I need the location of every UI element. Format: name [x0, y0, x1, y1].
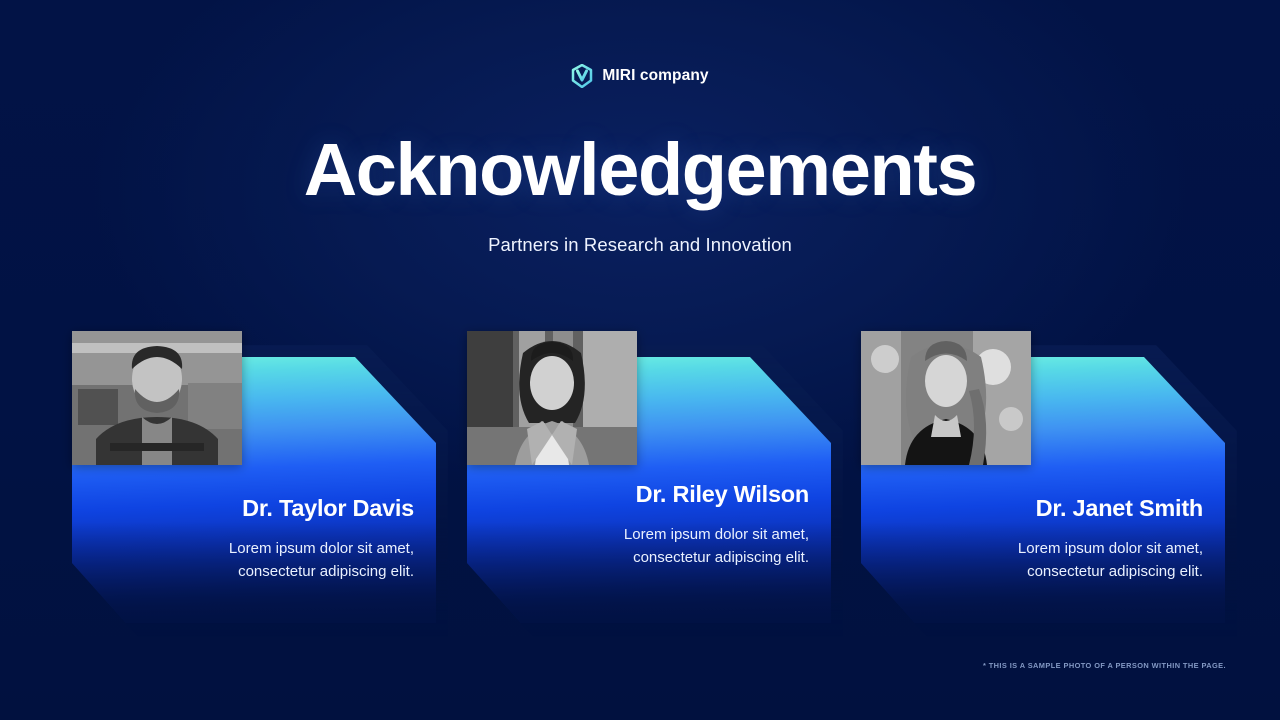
- card-description-line-1: Lorem ipsum dolor sit amet,: [229, 540, 414, 557]
- card-text-block: Dr. Riley Wilson Lorem ipsum dolor sit a…: [481, 481, 809, 570]
- card-person-name: Dr. Janet Smith: [875, 495, 1203, 522]
- card-description-line-2: consectetur adipiscing elit.: [86, 561, 414, 584]
- card-person-description: Lorem ipsum dolor sit amet, consectetur …: [481, 524, 809, 570]
- card-text-block: Dr. Janet Smith Lorem ipsum dolor sit am…: [875, 495, 1203, 584]
- card-description-line-2: consectetur adipiscing elit.: [481, 547, 809, 570]
- avatar: [861, 331, 1031, 465]
- card-text-block: Dr. Taylor Davis Lorem ipsum dolor sit a…: [86, 495, 414, 584]
- acknowledgement-card[interactable]: Dr. Riley Wilson Lorem ipsum dolor sit a…: [467, 331, 831, 623]
- acknowledgement-card[interactable]: Dr. Taylor Davis Lorem ipsum dolor sit a…: [72, 331, 436, 623]
- avatar: [467, 331, 637, 465]
- card-description-line-1: Lorem ipsum dolor sit amet,: [624, 526, 809, 543]
- card-person-name: Dr. Riley Wilson: [481, 481, 809, 508]
- sample-photo-disclaimer: * THIS IS A SAMPLE PHOTO OF A PERSON WIT…: [983, 661, 1226, 670]
- card-person-description: Lorem ipsum dolor sit amet, consectetur …: [86, 538, 414, 584]
- card-person-name: Dr. Taylor Davis: [86, 495, 414, 522]
- slide-acknowledgements: MIRI company Acknowledgements Partners i…: [0, 0, 1280, 720]
- avatar: [72, 331, 242, 465]
- card-description-line-2: consectetur adipiscing elit.: [875, 561, 1203, 584]
- card-description-line-1: Lorem ipsum dolor sit amet,: [1018, 540, 1203, 557]
- acknowledgement-card-list: Dr. Taylor Davis Lorem ipsum dolor sit a…: [0, 0, 1280, 720]
- acknowledgement-card[interactable]: Dr. Janet Smith Lorem ipsum dolor sit am…: [861, 331, 1225, 623]
- card-person-description: Lorem ipsum dolor sit amet, consectetur …: [875, 538, 1203, 584]
